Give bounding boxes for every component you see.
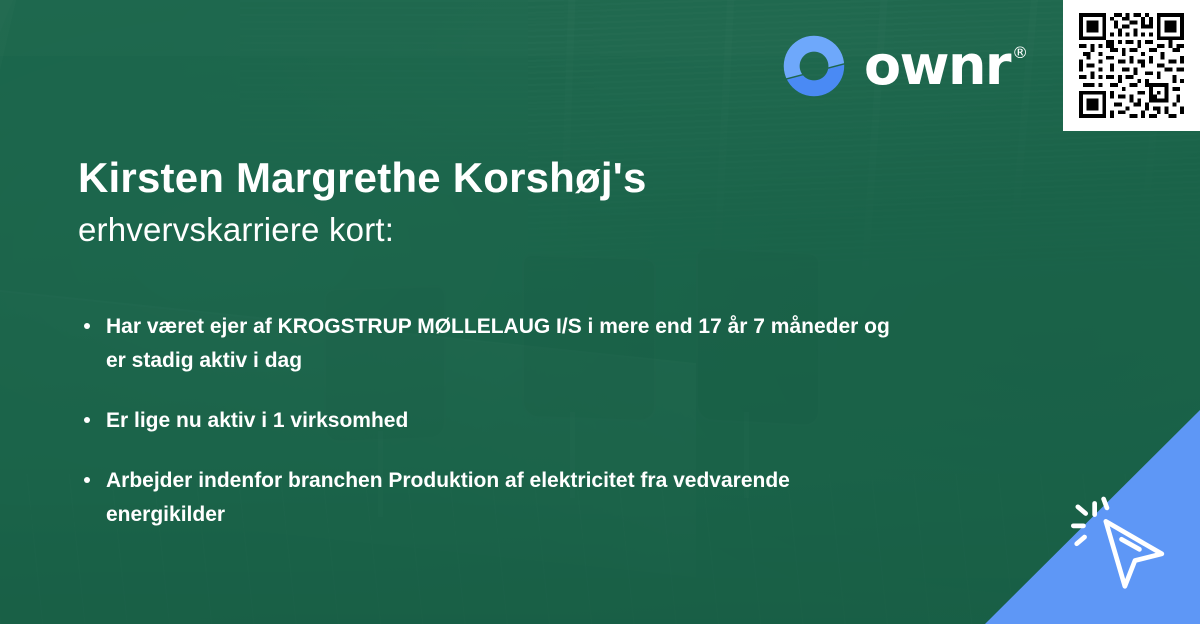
bullet-icon <box>84 477 90 483</box>
bullet-icon <box>84 417 90 423</box>
click-cursor-icon <box>1070 490 1182 602</box>
list-item: Arbejder indenfor branchen Produktion af… <box>78 464 908 532</box>
qr-code-icon[interactable] <box>1075 9 1188 122</box>
qr-code-panel[interactable] <box>1063 0 1200 131</box>
ownr-wordmark: ownr ® <box>864 39 1027 93</box>
registered-trademark-symbol: ® <box>1012 45 1027 61</box>
list-item: Er lige nu aktiv i 1 virksomhed <box>78 404 908 438</box>
ownr-logo: ownr ® <box>778 30 1027 102</box>
career-facts-list: Har været ejer af KROGSTRUP MØLLELAUG I/… <box>78 310 908 532</box>
person-name: Kirsten Margrethe Korshøj's <box>78 152 978 203</box>
ownr-circle-logo-icon <box>778 30 850 102</box>
list-item: Har været ejer af KROGSTRUP MØLLELAUG I/… <box>78 310 908 378</box>
list-item-text: Arbejder indenfor branchen Produktion af… <box>106 469 790 526</box>
list-item-text: Har været ejer af KROGSTRUP MØLLELAUG I/… <box>106 315 890 372</box>
ownr-wordmark-text: ownr <box>864 39 1010 93</box>
page-title: Kirsten Margrethe Korshøj's erhvervskarr… <box>78 152 978 252</box>
subtitle: erhvervskarriere kort: <box>78 209 978 252</box>
bullet-icon <box>84 323 90 329</box>
business-career-card: ownr ® <box>0 0 1200 624</box>
list-item-text: Er lige nu aktiv i 1 virksomhed <box>106 409 408 432</box>
